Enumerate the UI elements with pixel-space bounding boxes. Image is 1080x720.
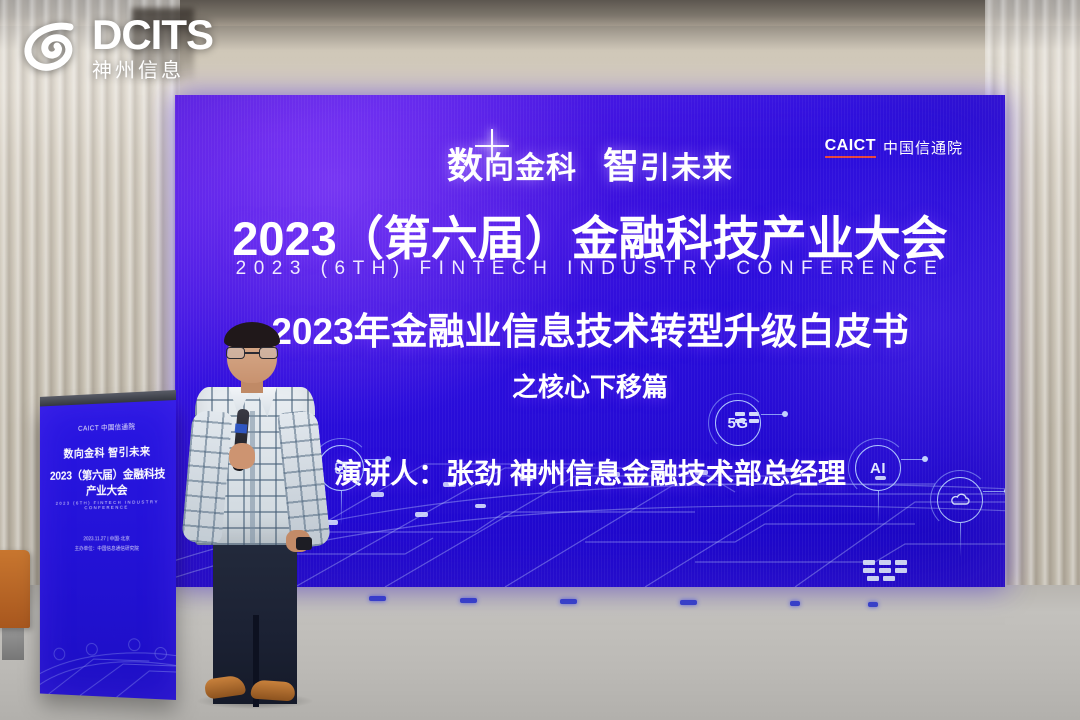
person-hand-left [229,443,255,469]
floor-reflection [790,601,800,606]
floor-reflection [868,602,878,607]
speaker-person [193,325,318,700]
podium: CAICT 中国信通院 数向金科 智引未来 2023（第六届）金融科技产业大会 … [40,400,176,700]
podium-graphic: CAICT 中国信通院 数向金科 智引未来 2023（第六届）金融科技产业大会 … [45,420,170,552]
floor-reflection [680,600,697,605]
podium-host-line: 主办单位：中国信息通信研究院 [45,545,170,552]
podium-title-cn: 2023（第六届）金融科技产业大会 [45,465,170,499]
glasses-icon [226,347,278,359]
podium-decoration [40,607,176,700]
podium-front-panel: CAICT 中国信通院 数向金科 智引未来 2023（第六届）金融科技产业大会 … [40,400,176,700]
podium-caict-logo: CAICT 中国信通院 [45,420,170,435]
person-shoe-right [250,679,295,701]
dcits-brand-en: DCITS [92,14,213,56]
presentation-clicker [296,537,312,550]
chair-leg [2,624,24,660]
photo-scene: CAICT 中国信通院 数向金科智引未来 2023（第六届）金融科技产业大会 2… [0,0,1080,720]
swirl-logo-icon [22,19,82,77]
chair [0,550,30,628]
floor-reflection [460,598,477,603]
podium-date-line: 2023.11.27 | 中国·北京 [45,535,170,542]
podium-tagline: 数向金科 智引未来 [45,442,170,462]
podium-title-en: 2023 (6TH) FINTECH INDUSTRY CONFERENCE [45,499,170,511]
dcits-brand-cn: 神州信息 [92,61,213,81]
floor-reflection [369,596,386,601]
floor-reflection [560,599,577,604]
dcits-watermark: DCITS 神州信息 [22,14,213,81]
